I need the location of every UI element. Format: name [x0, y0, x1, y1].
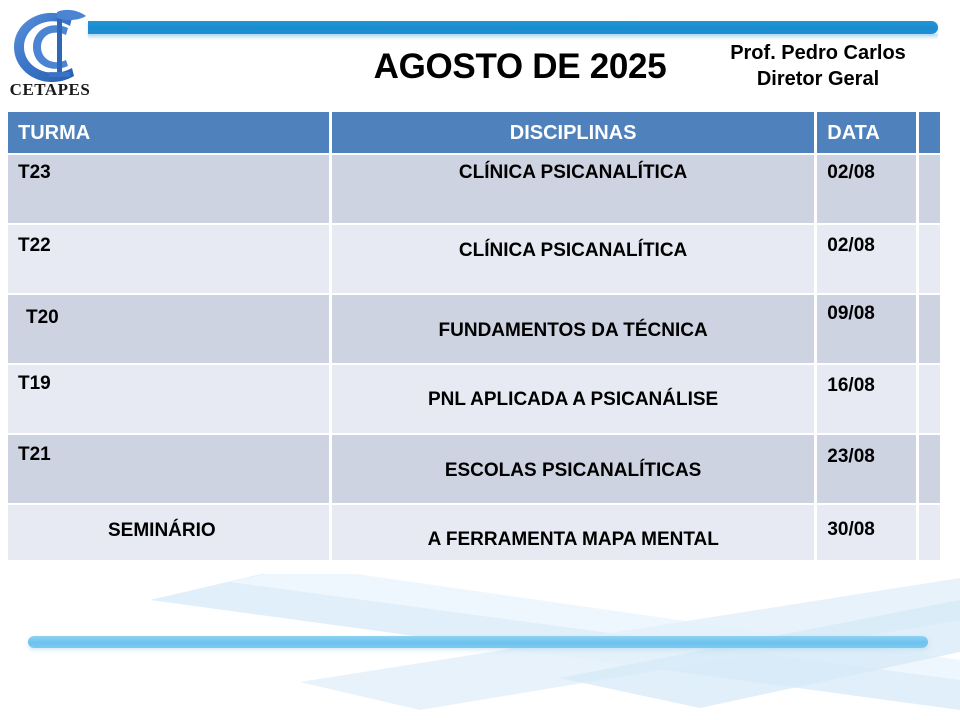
cell-disciplina: CLÍNICA PSICANALÍTICA [332, 155, 814, 223]
column-header-extra [919, 112, 940, 153]
cell-extra [919, 505, 940, 573]
cell-turma: T22 [8, 225, 329, 293]
cell-data: 02/08 [817, 155, 916, 223]
cell-disciplina: PNL APLICADA A PSICANÁLISE [332, 365, 814, 433]
table-row: SEMINÁRIO A FERRAMENTA MAPA MENTAL 30/08 [8, 505, 940, 573]
cell-disciplina: FUNDAMENTOS DA TÉCNICA [332, 295, 814, 363]
table-row: T20 FUNDAMENTOS DA TÉCNICA 09/08 [8, 295, 940, 363]
page-title: AGOSTO DE 2025 [330, 47, 710, 87]
cell-data: 30/08 [817, 505, 916, 573]
logo-wordmark: CETAPES [2, 80, 98, 100]
cell-extra [919, 295, 940, 363]
cell-disciplina: ESCOLAS PSICANALÍTICAS [332, 435, 814, 503]
table-row: T23 CLÍNICA PSICANALÍTICA 02/08 [8, 155, 940, 223]
column-header-disciplinas: DISCIPLINAS [332, 112, 814, 153]
column-header-turma: TURMA [8, 112, 329, 153]
cell-data: 09/08 [817, 295, 916, 363]
cell-extra [919, 155, 940, 223]
cell-turma: T20 [8, 295, 329, 363]
director-byline: Prof. Pedro Carlos Diretor Geral [700, 40, 936, 93]
cell-turma: T23 [8, 155, 329, 223]
director-role: Diretor Geral [700, 66, 936, 92]
slide-canvas: CETAPES AGOSTO DE 2025 Prof. Pedro Carlo… [0, 0, 960, 720]
cell-turma: T21 [8, 435, 329, 503]
bottom-accent-bar [28, 636, 928, 648]
schedule-table: TURMA DISCIPLINAS DATA T23 CLÍNICA PSICA… [8, 112, 940, 575]
top-accent-bar [88, 21, 938, 34]
column-header-data: DATA [817, 112, 916, 153]
cell-extra [919, 225, 940, 293]
table-row: T22 CLÍNICA PSICANALÍTICA 02/08 [8, 225, 940, 293]
cell-extra [919, 365, 940, 433]
table-header-row: TURMA DISCIPLINAS DATA [8, 112, 940, 153]
cell-disciplina: A FERRAMENTA MAPA MENTAL [332, 505, 814, 573]
table-row: T19 PNL APLICADA A PSICANÁLISE 16/08 [8, 365, 940, 433]
cetapes-logo: CETAPES [2, 2, 98, 106]
cell-disciplina: CLÍNICA PSICANALÍTICA [332, 225, 814, 293]
cell-data: 02/08 [817, 225, 916, 293]
cell-turma: T19 [8, 365, 329, 433]
director-name: Prof. Pedro Carlos [700, 40, 936, 66]
cell-data: 23/08 [817, 435, 916, 503]
table-row: T21 ESCOLAS PSICANALÍTICAS 23/08 [8, 435, 940, 503]
cell-turma: SEMINÁRIO [8, 505, 329, 573]
cell-data: 16/08 [817, 365, 916, 433]
cell-extra [919, 435, 940, 503]
